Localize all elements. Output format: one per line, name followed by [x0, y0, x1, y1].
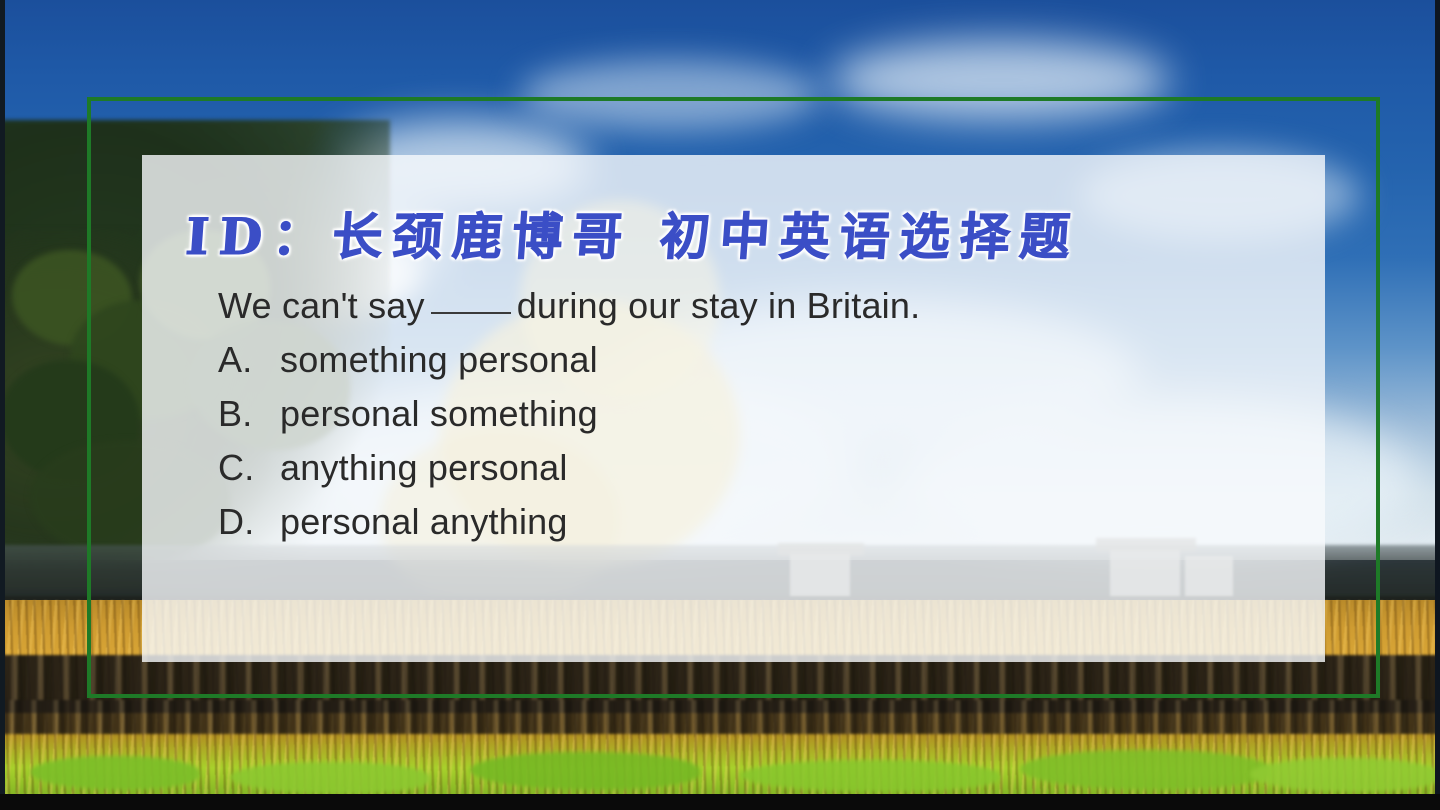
option-d[interactable]: D. personal anything [218, 495, 1278, 549]
question-block: We can't sayduring our stay in Britain. … [218, 279, 1278, 549]
option-b[interactable]: B. personal something [218, 387, 1278, 441]
right-edge-bar [1435, 0, 1440, 810]
answer-blank [431, 286, 511, 314]
option-b-letter: B. [218, 387, 280, 441]
option-c-text: anything personal [280, 441, 568, 495]
question-before-blank: We can't say [218, 285, 425, 326]
cloud-shape [520, 60, 820, 130]
option-c[interactable]: C. anything personal [218, 441, 1278, 495]
question-text: We can't sayduring our stay in Britain. [218, 279, 1278, 333]
option-b-text: personal something [280, 387, 598, 441]
option-a-letter: A. [218, 333, 280, 387]
bottom-letterbox-bar [0, 794, 1440, 810]
content-panel: ID：长颈鹿博哥 初中英语选择题 We can't sayduring our … [142, 155, 1325, 662]
option-c-letter: C. [218, 441, 280, 495]
option-d-text: personal anything [280, 495, 568, 549]
option-a-text: something personal [280, 333, 598, 387]
option-d-letter: D. [218, 495, 280, 549]
option-a[interactable]: A. something personal [218, 333, 1278, 387]
slide-stage: ID：长颈鹿博哥 初中英语选择题 We can't sayduring our … [0, 0, 1440, 810]
question-after-blank: during our stay in Britain. [517, 285, 921, 326]
left-edge-bar [0, 0, 5, 810]
cloud-shape [830, 40, 1170, 120]
stone-wall-shape [0, 700, 1440, 734]
slide-title: ID：长颈鹿博哥 初中英语选择题 [183, 197, 1082, 269]
